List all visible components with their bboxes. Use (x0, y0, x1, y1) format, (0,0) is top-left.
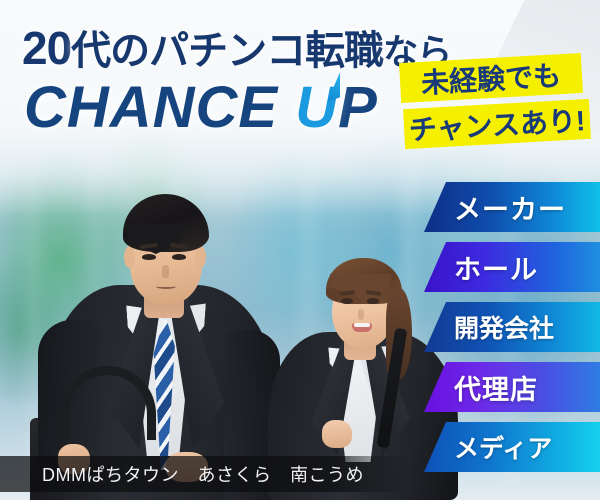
man-mouth (156, 284, 176, 289)
caption-strip: DMMぱちタウン あさくら 南こうめ (0, 456, 408, 492)
category-label-agency: 代理店 (454, 368, 538, 407)
man-nose (162, 265, 169, 278)
man-ear-right (195, 246, 206, 268)
man-figure (46, 160, 276, 500)
category-button-agency[interactable]: 代理店 (424, 362, 600, 412)
category-label-hall: ホール (454, 248, 538, 287)
category-button-development-company[interactable]: 開発会社 (424, 302, 600, 352)
headline: 20代のパチンコ転職なら (22, 18, 451, 76)
logo-text-chance: CHANCE (24, 75, 295, 140)
woman-hand-left (322, 420, 352, 448)
caption-text: DMMぱちタウン あさくら 南こうめ (42, 461, 364, 487)
chance-up-logo: CHANCE UP (24, 74, 378, 141)
woman-eye-left (341, 298, 353, 304)
category-label-maker: メーカー (454, 188, 566, 227)
advertisement-banner[interactable]: 20代のパチンコ転職なら CHANCE UP 未経験でも チャンスあり! メーカ… (0, 0, 600, 500)
category-button-hall[interactable]: ホール (424, 242, 600, 292)
woman-eye-right (367, 298, 379, 304)
woman-teeth (354, 323, 370, 327)
headline-middle: 代のパチンコ転職 (71, 29, 383, 73)
man-eye-right (172, 254, 186, 260)
man-eye-left (142, 254, 156, 260)
business-people-photo (0, 150, 420, 500)
logo-letter-u-accent: U (295, 74, 338, 141)
man-ear-left (124, 246, 135, 268)
woman-nose (358, 309, 364, 320)
headline-number: 20 (22, 22, 71, 74)
category-button-maker[interactable]: メーカー (424, 182, 600, 232)
badge-no-experience-label: 未経験でも (420, 54, 562, 102)
category-label-media: メディア (454, 429, 552, 465)
category-button-media[interactable]: メディア (424, 422, 600, 472)
category-label-development-company: 開発会社 (454, 309, 554, 345)
logo-text-p: P (338, 75, 378, 140)
